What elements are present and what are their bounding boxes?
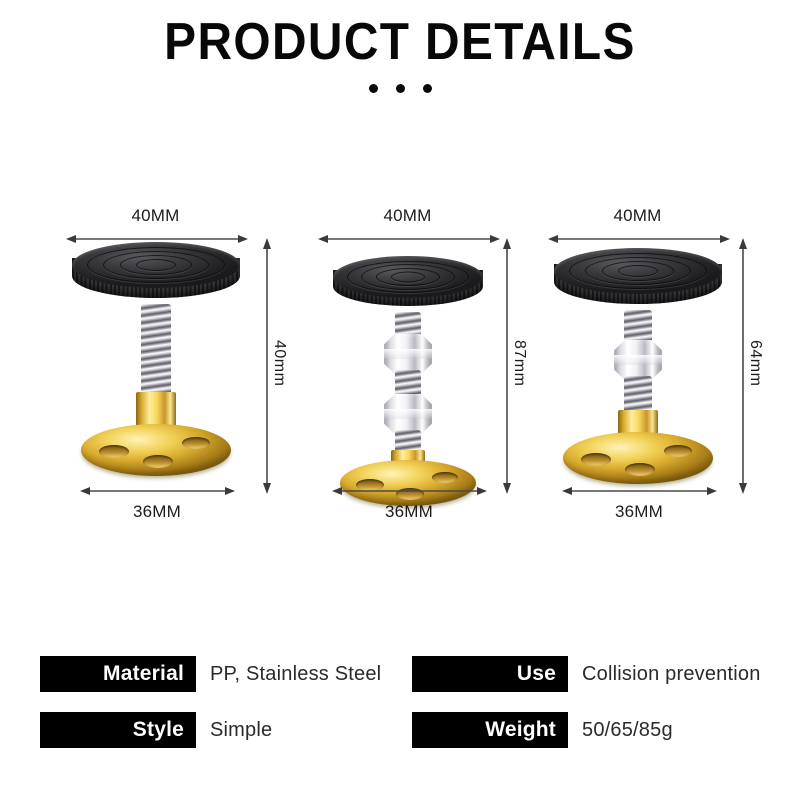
base-screw-hole — [432, 472, 458, 483]
base-screw-hole — [664, 445, 692, 457]
spec-label-weight: Weight — [412, 712, 568, 748]
spec-row-use: Use Collision prevention — [412, 656, 761, 692]
cap-top-face — [333, 256, 483, 298]
spec-label-material: Material — [40, 656, 196, 692]
product-artwork-short — [56, 242, 256, 492]
dimension-bottom-arrow-icon — [332, 486, 487, 496]
spec-row-weight: Weight 50/65/85g — [412, 712, 673, 748]
cap-ring-icon — [136, 259, 176, 271]
spec-label-style: Style — [40, 712, 196, 748]
product-artwork-medium — [538, 242, 738, 492]
cap-ring-icon — [391, 272, 425, 283]
threaded-screw-shaft — [141, 304, 171, 400]
base-screw-hole — [182, 437, 210, 449]
specification-table: Material PP, Stainless Steel Use Collisi… — [0, 650, 800, 760]
title-dots-decoration — [0, 84, 800, 93]
spec-value-weight: 50/65/85g — [582, 719, 673, 742]
dimension-top-width-label: 40MM — [530, 206, 745, 226]
cap-top-face — [72, 242, 240, 288]
dot-icon — [369, 84, 378, 93]
gold-base-plate — [563, 432, 713, 484]
product-diagram-medium: 40MM — [530, 190, 780, 550]
spec-value-material: PP, Stainless Steel — [210, 663, 381, 686]
dimension-height-label: 64mm — [746, 340, 764, 386]
product-diagram-row: 40MM — [0, 190, 800, 550]
base-screw-hole — [581, 453, 611, 466]
base-screw-hole — [625, 463, 655, 476]
page-title: PRODUCT DETAILS — [32, 16, 768, 68]
dimension-height-label: 87mm — [510, 340, 528, 386]
spec-value-use: Collision prevention — [582, 663, 761, 686]
dimension-base-width-label: 36MM — [48, 502, 266, 522]
spec-value-style: Simple — [210, 719, 272, 742]
dimension-height-label: 40mm — [270, 340, 288, 386]
hex-nut — [384, 394, 432, 434]
hex-nut — [614, 340, 662, 380]
product-diagram-short: 40MM — [48, 190, 298, 550]
dimension-bottom-arrow-icon — [562, 486, 717, 496]
hex-nut — [384, 334, 432, 374]
cap-top-face — [554, 248, 722, 294]
knurled-cap — [554, 248, 722, 314]
dimension-top-width-label: 40MM — [48, 206, 263, 226]
product-artwork-tall — [308, 242, 508, 492]
base-screw-hole — [143, 455, 173, 468]
gold-base-plate — [340, 460, 476, 506]
spec-label-use: Use — [412, 656, 568, 692]
dot-icon — [396, 84, 405, 93]
knurled-cap — [333, 256, 483, 316]
knurled-cap — [72, 242, 240, 308]
threaded-screw-shaft — [624, 310, 652, 344]
gold-base-plate — [81, 424, 231, 476]
spec-row-style: Style Simple — [40, 712, 272, 748]
dimension-base-width-label: 36MM — [530, 502, 748, 522]
cap-ring-icon — [618, 265, 658, 277]
dimension-base-width-label: 36MM — [300, 502, 518, 522]
spec-row-material: Material PP, Stainless Steel — [40, 656, 381, 692]
product-diagram-tall: 40MM — [300, 190, 550, 550]
base-screw-hole — [99, 445, 129, 458]
dimension-bottom-arrow-icon — [80, 486, 235, 496]
dimension-top-width-label: 40MM — [300, 206, 515, 226]
dot-icon — [423, 84, 432, 93]
